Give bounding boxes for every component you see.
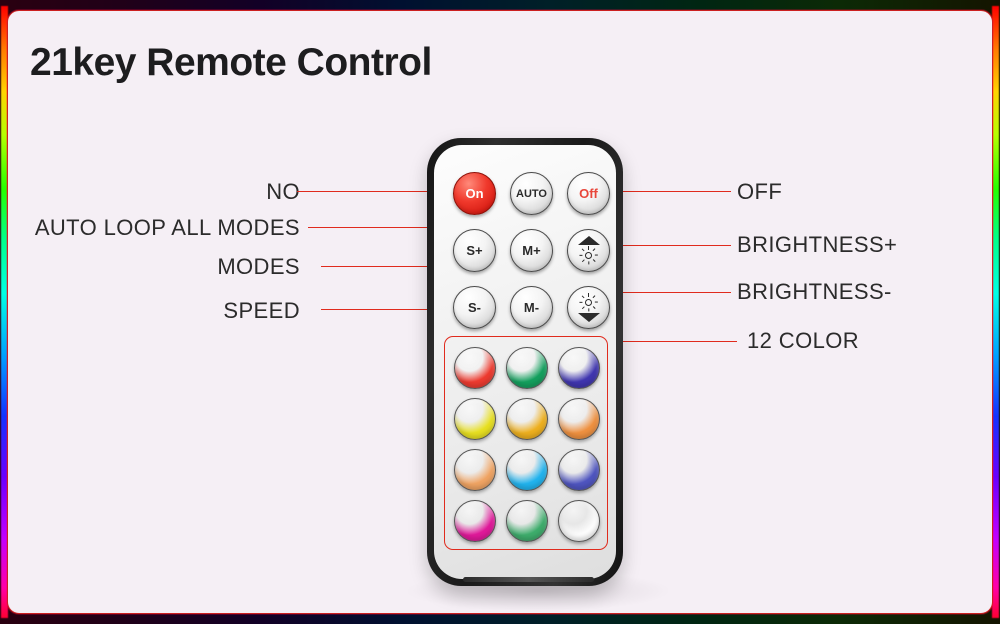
remote-faceplate: On AUTO Off S+ M+ — [434, 145, 616, 579]
brightness-up-button[interactable] — [567, 229, 610, 272]
label-brightness-up: BRIGHTNESS+ — [737, 232, 897, 258]
color-orange-button[interactable] — [558, 398, 600, 440]
label-brightness-down: BRIGHTNESS- — [737, 279, 892, 305]
brightness-down-icon — [578, 293, 600, 322]
off-button-label: Off — [579, 186, 598, 201]
remote-bottom-seam — [463, 577, 594, 582]
brightness-down-button[interactable] — [567, 286, 610, 329]
color-cyan-button[interactable] — [506, 449, 548, 491]
color-white-button[interactable] — [558, 500, 600, 542]
color-peach-button[interactable] — [454, 449, 496, 491]
outer-frame: 21key Remote Control NO AUTO LOOP ALL MO… — [0, 0, 1000, 624]
label-modes: MODES — [217, 254, 300, 280]
label-12-color: 12 COLOR — [747, 328, 859, 354]
off-button[interactable]: Off — [567, 172, 610, 215]
rainbow-strip-right — [992, 6, 999, 618]
label-no: NO — [266, 179, 300, 205]
speed-minus-button[interactable]: S- — [453, 286, 496, 329]
color-blue-button[interactable] — [558, 347, 600, 389]
connector-12-color — [609, 341, 737, 342]
mode-minus-button[interactable]: M- — [510, 286, 553, 329]
content-card: 21key Remote Control NO AUTO LOOP ALL MO… — [7, 10, 993, 614]
color-yellow-button[interactable] — [454, 398, 496, 440]
color-magenta-button[interactable] — [454, 500, 496, 542]
color-green-button[interactable] — [506, 347, 548, 389]
page-title: 21key Remote Control — [30, 41, 432, 85]
color-pad — [444, 336, 608, 550]
color-red-button[interactable] — [454, 347, 496, 389]
label-off: OFF — [737, 179, 782, 205]
speed-minus-button-label: S- — [468, 300, 481, 315]
color-lightgreen-button[interactable] — [506, 500, 548, 542]
on-button-label: On — [465, 186, 483, 201]
speed-plus-button[interactable]: S+ — [453, 229, 496, 272]
color-gold-button[interactable] — [506, 398, 548, 440]
label-auto-loop-all-modes: AUTO LOOP ALL MODES — [35, 215, 300, 241]
brightness-up-icon — [578, 236, 600, 265]
auto-button[interactable]: AUTO — [510, 172, 553, 215]
speed-plus-button-label: S+ — [466, 243, 482, 258]
auto-button-label: AUTO — [516, 188, 547, 200]
remote-control: On AUTO Off S+ M+ — [427, 138, 623, 586]
mode-plus-button-label: M+ — [522, 243, 540, 258]
on-button[interactable]: On — [453, 172, 496, 215]
mode-plus-button[interactable]: M+ — [510, 229, 553, 272]
label-speed: SPEED — [223, 298, 300, 324]
mode-minus-button-label: M- — [524, 300, 539, 315]
color-indigo-button[interactable] — [558, 449, 600, 491]
